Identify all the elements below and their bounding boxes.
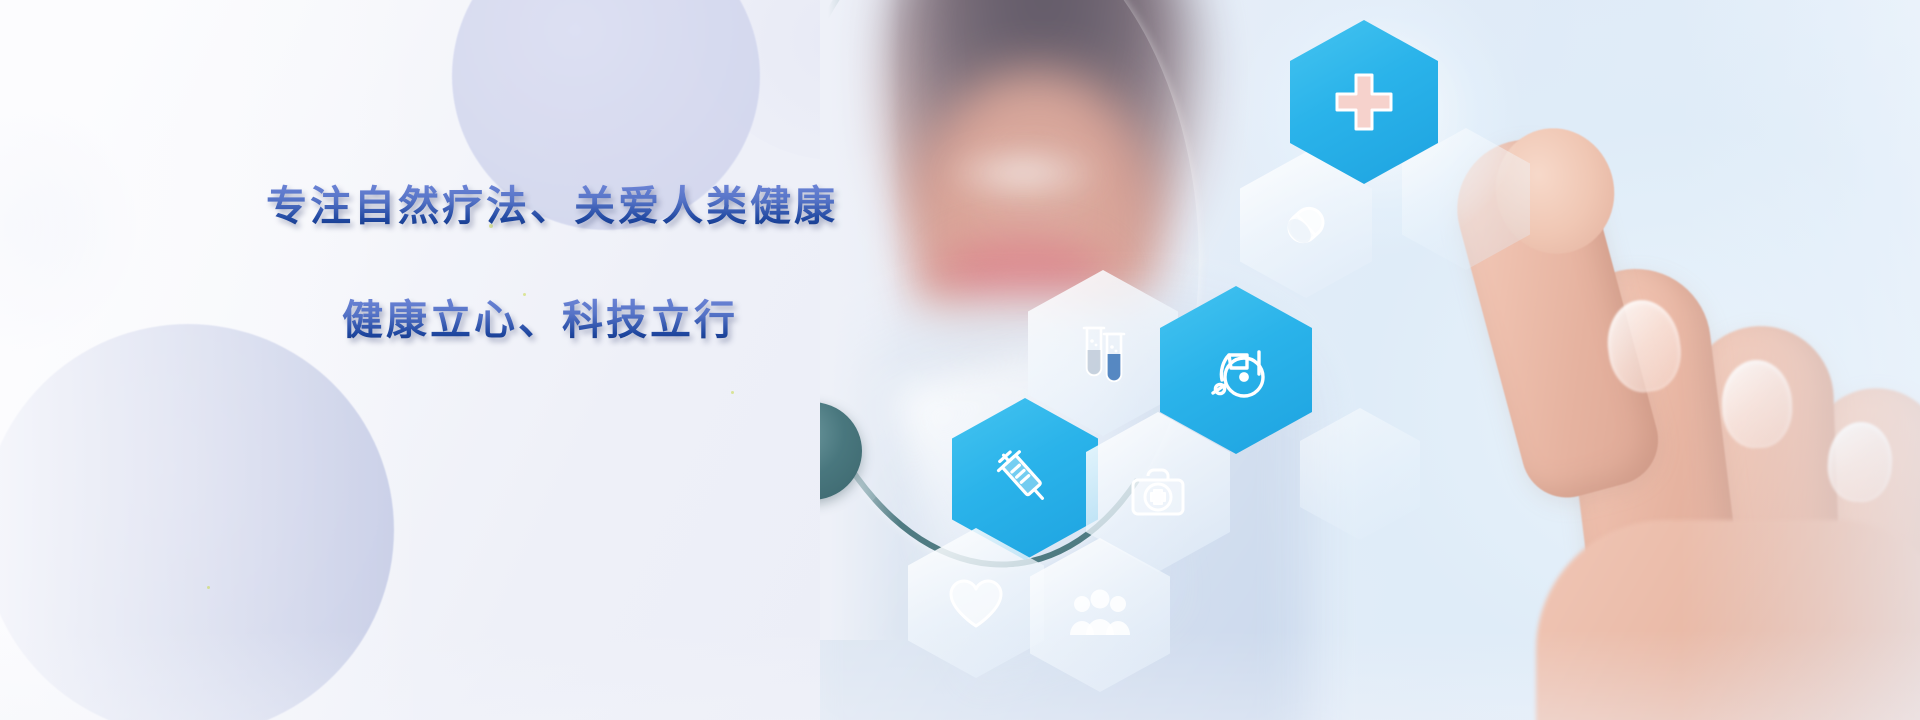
wheelchair-icon	[1196, 330, 1276, 410]
headline-line-1: 专注自然疗法、关爱人类健康	[266, 182, 978, 230]
syringe-icon	[985, 439, 1065, 519]
right-edge-fade	[1680, 0, 1920, 720]
bottom-edge-fade	[0, 630, 1920, 720]
headline-line-2: 健康立心、科技立行	[342, 296, 978, 344]
test-tubes-icon	[1064, 314, 1142, 392]
hex-tile-blank	[1300, 408, 1420, 540]
hex-tile-test-tubes[interactable]	[1028, 270, 1178, 436]
heart-icon	[941, 568, 1011, 638]
headline-block: 专注自然疗法、关爱人类健康 健康立心、科技立行	[258, 182, 978, 344]
medical-cross-icon	[1329, 67, 1399, 137]
pill-capsule-icon	[1270, 189, 1342, 261]
first-aid-kit-icon	[1120, 454, 1196, 530]
hexagon-icon-cluster	[0, 0, 1920, 720]
medical-hero-banner: 专注自然疗法、关爱人类健康 健康立心、科技立行	[0, 0, 1920, 720]
